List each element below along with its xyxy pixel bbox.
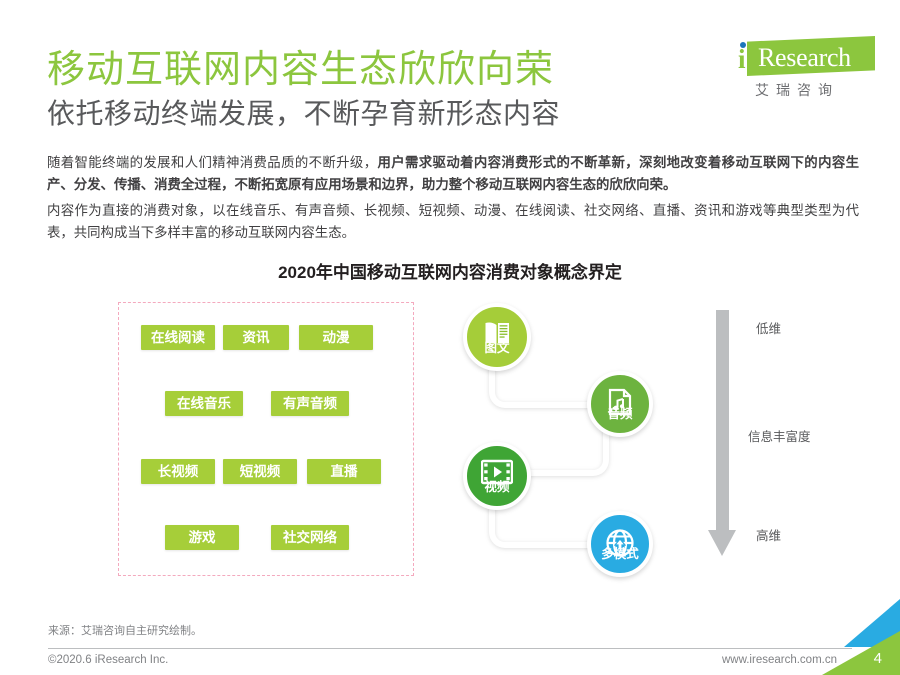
- dimension-arrow-head: [708, 530, 736, 556]
- axis-label-mid: 信息丰富度: [748, 426, 811, 445]
- axis-label-bottom: 高维: [756, 525, 781, 544]
- content-type-tag[interactable]: 长视频: [141, 459, 215, 484]
- content-type-tag[interactable]: 短视频: [223, 459, 297, 484]
- body-paragraph-2: 内容作为直接的消费对象，以在线音乐、有声音频、长视频、短视频、动漫、在线阅读、社…: [47, 200, 859, 244]
- slide-canvas: i Research 艾瑞咨询 移动互联网内容生态欣欣向荣 依托移动终端发展，不…: [0, 0, 900, 675]
- logo-chinese-name: 艾瑞咨询: [755, 80, 839, 100]
- dimension-arrow-shaft: [716, 310, 729, 532]
- content-type-tag[interactable]: 动漫: [299, 325, 373, 350]
- content-type-tag[interactable]: 资讯: [223, 325, 289, 350]
- footer-divider: [48, 648, 852, 649]
- flow-node-label: 视频: [467, 476, 527, 495]
- flow-node-label: 多模式: [591, 543, 649, 562]
- flow-node-label: 图文: [467, 337, 527, 356]
- body-paragraph-1: 随着智能终端的发展和人们精神消费品质的不断升级，用户需求驱动着内容消费形式的不断…: [47, 152, 859, 196]
- flow-node-label: 音频: [591, 403, 649, 422]
- page-subtitle: 依托移动终端发展，不断孕育新形态内容: [47, 92, 560, 132]
- copyright-text: ©2020.6 iResearch Inc.: [48, 654, 168, 666]
- content-types-group: …… 在线阅读资讯动漫在线音乐有声音频长视频短视频直播游戏社交网络: [118, 302, 414, 576]
- axis-label-top: 低维: [756, 318, 781, 337]
- logo-letter-i: i: [738, 46, 746, 73]
- content-type-tag[interactable]: 在线音乐: [165, 391, 243, 416]
- flow-node-图文[interactable]: 图文: [463, 303, 531, 371]
- page-number: 4: [874, 650, 882, 667]
- content-type-tag[interactable]: 在线阅读: [141, 325, 215, 350]
- content-type-tag[interactable]: 直播: [307, 459, 381, 484]
- content-type-tag[interactable]: 游戏: [165, 525, 239, 550]
- flow-node-音频[interactable]: 音频: [587, 371, 653, 437]
- logo-wordmark: Research: [758, 43, 851, 73]
- flow-node-多模式[interactable]: 多模式: [587, 511, 653, 577]
- iresearch-logo: i Research 艾瑞咨询: [735, 36, 875, 102]
- chart-title: 2020年中国移动互联网内容消费对象概念界定: [0, 258, 900, 283]
- flow-node-视频[interactable]: 视频: [463, 442, 531, 510]
- content-type-tag[interactable]: 有声音频: [271, 391, 349, 416]
- source-note: 来源：艾瑞咨询自主研究绘制。: [48, 622, 202, 638]
- website-url[interactable]: www.iresearch.com.cn: [722, 654, 837, 666]
- page-title: 移动互联网内容生态欣欣向荣: [47, 38, 554, 93]
- para1-lead: 随着智能终端的发展和人们精神消费品质的不断升级，: [47, 155, 377, 170]
- logo-i-dot: [740, 42, 746, 48]
- content-type-tag[interactable]: 社交网络: [271, 525, 349, 550]
